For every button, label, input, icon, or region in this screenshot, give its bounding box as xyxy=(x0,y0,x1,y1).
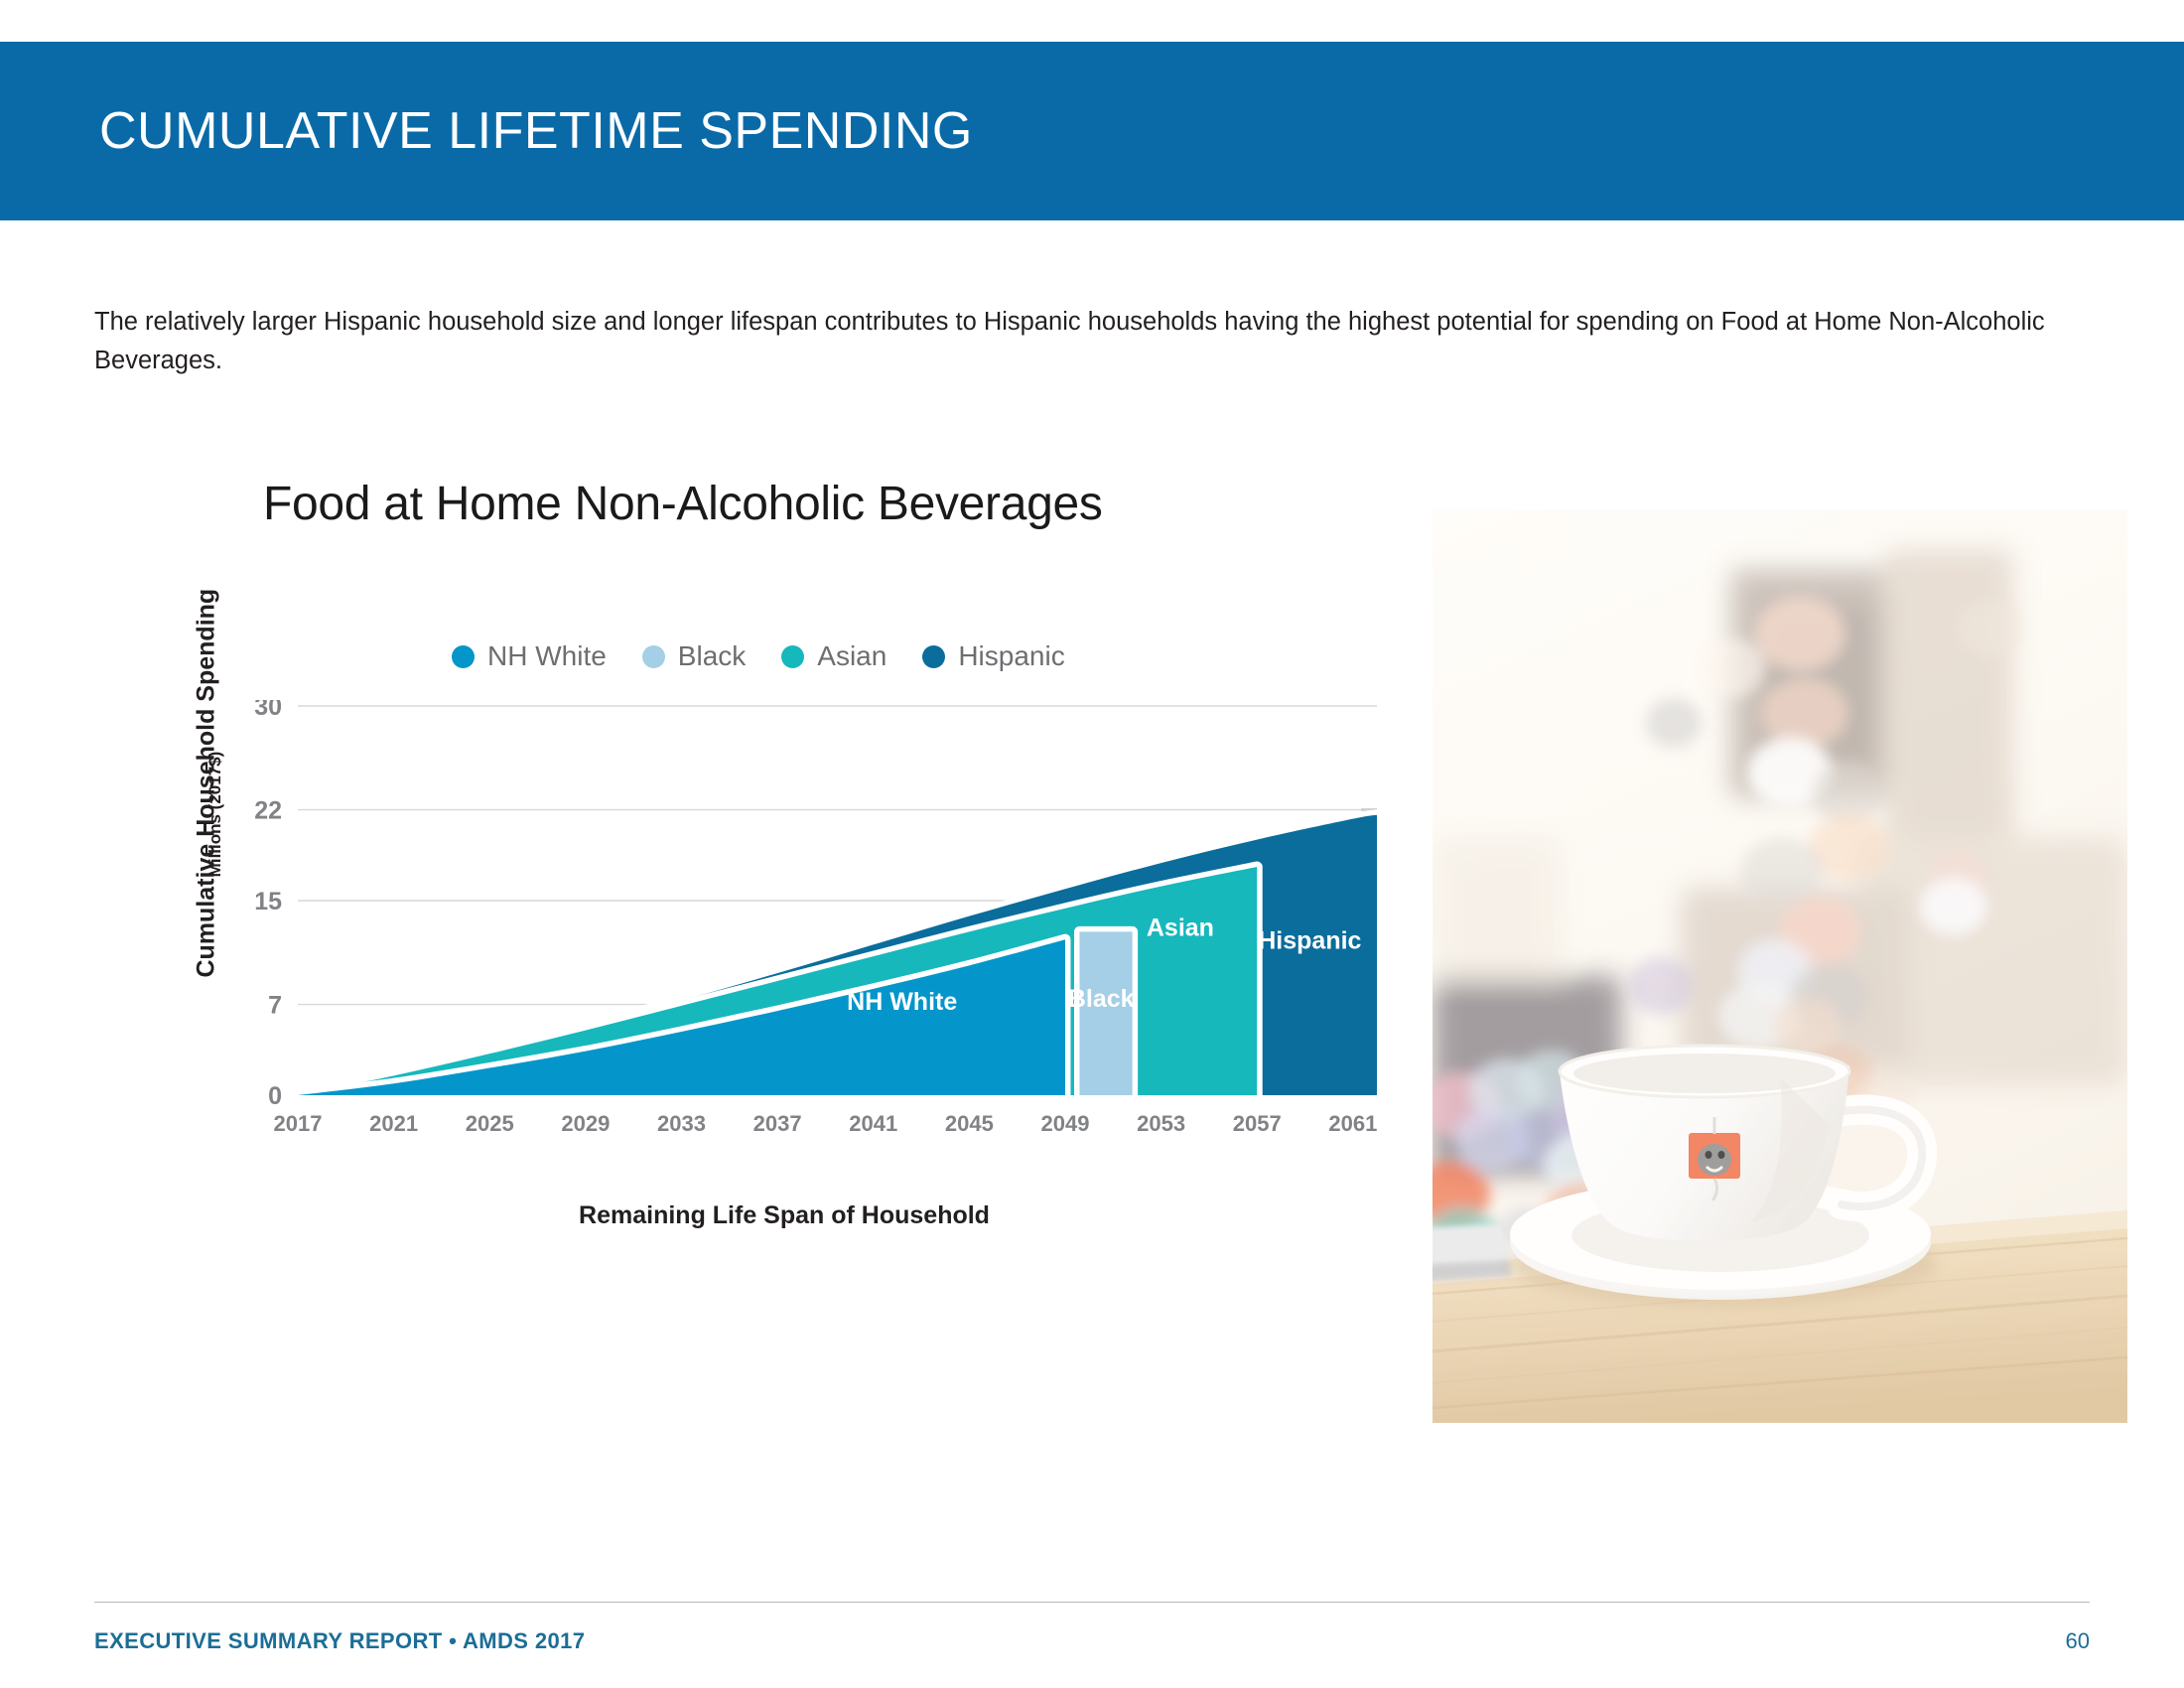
chart-legend: NH White Black Asian Hispanic xyxy=(452,640,1065,672)
legend-label-nh-white: NH White xyxy=(487,640,607,672)
series-black xyxy=(1079,931,1132,1095)
x-tick-label: 2061 xyxy=(1328,1111,1377,1136)
x-tick-label: 2021 xyxy=(369,1111,418,1136)
chart-container: Food at Home Non-Alcoholic Beverages NH … xyxy=(99,467,1400,1291)
series-label-hispanic: Hispanic xyxy=(1258,926,1361,954)
x-tick-label: 2045 xyxy=(945,1111,994,1136)
page-title: CUMULATIVE LIFETIME SPENDING xyxy=(99,101,973,161)
series-area xyxy=(1079,931,1132,1095)
x-tick-label: 2049 xyxy=(1041,1111,1090,1136)
x-tick-label: 2033 xyxy=(657,1111,706,1136)
y-tick-label: 7 xyxy=(268,992,282,1020)
x-tick-label: 2037 xyxy=(753,1111,802,1136)
y-tick-label: 15 xyxy=(254,888,282,915)
series-label-black: Black xyxy=(1068,985,1135,1013)
coffee-cup-photo-image xyxy=(1433,509,2127,1423)
page-header-bar: CUMULATIVE LIFETIME SPENDING xyxy=(0,42,2184,220)
legend-swatch-asian xyxy=(781,645,804,668)
legend-label-black: Black xyxy=(678,640,746,672)
y-axis-subtitle: Millions (2017$) xyxy=(205,720,225,909)
legend-swatch-hispanic xyxy=(922,645,945,668)
series-label-asian: Asian xyxy=(1147,914,1214,941)
x-tick-label: 2041 xyxy=(849,1111,897,1136)
coffee-cup-photo xyxy=(1433,509,2127,1423)
x-tick-label: 2029 xyxy=(561,1111,610,1136)
x-tick-label: 2017 xyxy=(274,1111,323,1136)
y-tick-label: 30 xyxy=(254,700,282,721)
plot-area: 07152230HispanicAsianBlackNH White201720… xyxy=(248,700,1395,1137)
footer-divider xyxy=(94,1602,2090,1603)
x-tick-label: 2057 xyxy=(1233,1111,1282,1136)
chart-title: Food at Home Non-Alcoholic Beverages xyxy=(263,477,1103,531)
x-tick-label: 2053 xyxy=(1137,1111,1185,1136)
x-tick-label: 2025 xyxy=(466,1111,514,1136)
footer-report-label: EXECUTIVE SUMMARY REPORT • AMDS 2017 xyxy=(94,1628,585,1654)
legend-label-hispanic: Hispanic xyxy=(958,640,1064,672)
legend-item-asian[interactable]: Asian xyxy=(781,640,887,672)
legend-swatch-black xyxy=(642,645,665,668)
footer-page-number: 60 xyxy=(2066,1628,2090,1654)
legend-swatch-nh-white xyxy=(452,645,475,668)
series-label-nh-white: NH White xyxy=(847,988,957,1016)
chart-plot-svg: 07152230HispanicAsianBlackNH White201720… xyxy=(248,700,1395,1137)
x-axis-title: Remaining Life Span of Household xyxy=(263,1201,1305,1230)
legend-item-nh-white[interactable]: NH White xyxy=(452,640,607,672)
legend-item-hispanic[interactable]: Hispanic xyxy=(922,640,1064,672)
legend-item-black[interactable]: Black xyxy=(642,640,746,672)
y-tick-label: 0 xyxy=(268,1082,282,1110)
intro-paragraph: The relatively larger Hispanic household… xyxy=(94,303,2139,380)
legend-label-asian: Asian xyxy=(817,640,887,672)
y-tick-label: 22 xyxy=(254,797,282,825)
